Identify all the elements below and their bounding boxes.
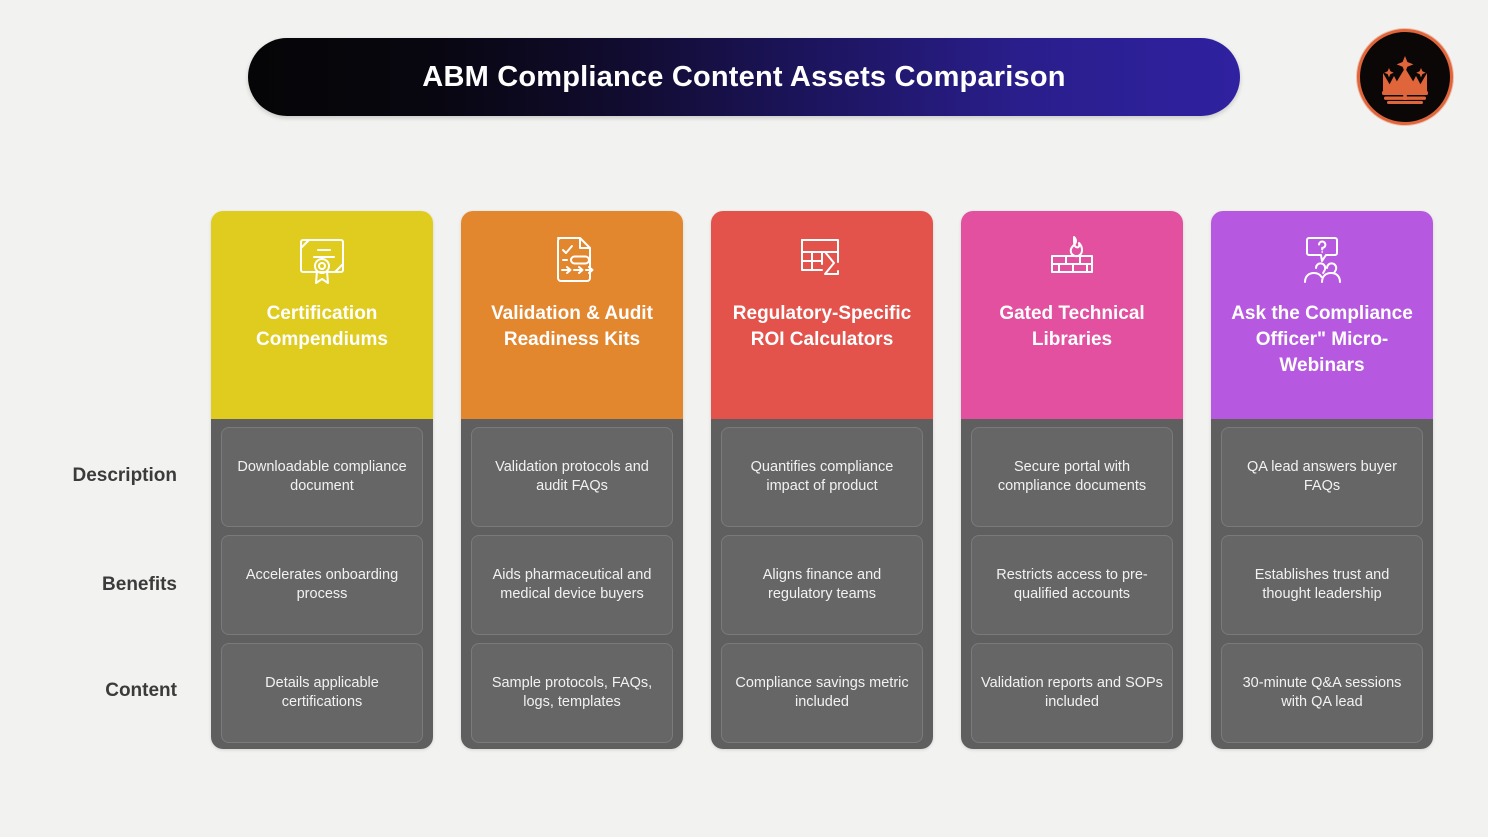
- brand-logo: [1357, 29, 1453, 125]
- cell-content: Compliance savings metric included: [721, 643, 923, 743]
- title-banner: ABM Compliance Content Assets Comparison: [248, 38, 1240, 116]
- cell-content: Validation reports and SOPs included: [971, 643, 1173, 743]
- certificate-seal-icon: [294, 231, 350, 289]
- column-header: Certification Compendiums: [211, 211, 433, 419]
- column-body: QA lead answers buyer FAQs Establishes t…: [1211, 419, 1433, 749]
- asset-column-gated-technical-libraries[interactable]: Gated Technical Libraries Secure portal …: [961, 211, 1183, 749]
- checklist-document-arrows-icon: [544, 231, 600, 289]
- cell-description: Quantifies compliance impact of product: [721, 427, 923, 527]
- column-body: Validation protocols and audit FAQs Aids…: [461, 419, 683, 749]
- page-header: ABM Compliance Content Assets Comparison: [0, 0, 1488, 150]
- column-title: Regulatory-Specific ROI Calculators: [721, 301, 923, 353]
- cell-description: Downloadable compliance document: [221, 427, 423, 527]
- column-header: Validation & Audit Readiness Kits: [461, 211, 683, 419]
- firewall-flame-icon: [1044, 231, 1100, 289]
- cell-benefits: Aids pharmaceutical and medical device b…: [471, 535, 673, 635]
- column-title: Certification Compendiums: [221, 301, 423, 353]
- cell-content: Sample protocols, FAQs, logs, templates: [471, 643, 673, 743]
- qa-people-speech-icon: [1294, 231, 1350, 289]
- column-header: Gated Technical Libraries: [961, 211, 1183, 419]
- cell-benefits: Accelerates onboarding process: [221, 535, 423, 635]
- cell-description: Validation protocols and audit FAQs: [471, 427, 673, 527]
- asset-column-regulatory-specific-roi-calculators[interactable]: Regulatory-Specific ROI Calculators Quan…: [711, 211, 933, 749]
- row-label-description: Description: [0, 420, 195, 532]
- column-header: Ask the Compliance Officer" Micro-Webina…: [1211, 211, 1433, 419]
- page-title: ABM Compliance Content Assets Comparison: [422, 61, 1065, 94]
- column-body: Quantifies compliance impact of product …: [711, 419, 933, 749]
- comparison-grid: Certification Compendiums Downloadable c…: [211, 211, 1435, 749]
- column-body: Downloadable compliance document Acceler…: [211, 419, 433, 749]
- asset-column-ask-the-compliance-officer-micro-webinars[interactable]: Ask the Compliance Officer" Micro-Webina…: [1211, 211, 1433, 749]
- row-label-benefits: Benefits: [0, 532, 195, 638]
- cell-content: 30-minute Q&A sessions with QA lead: [1221, 643, 1423, 743]
- asset-column-validation-audit-readiness-kits[interactable]: Validation & Audit Readiness Kits Valida…: [461, 211, 683, 749]
- crown-logo-icon: [1374, 46, 1436, 108]
- cell-benefits: Aligns finance and regulatory teams: [721, 535, 923, 635]
- row-label-column: Description Benefits Content: [0, 420, 195, 744]
- spreadsheet-sigma-icon: [794, 231, 850, 289]
- column-body: Secure portal with compliance documents …: [961, 419, 1183, 749]
- asset-column-certification-compendiums[interactable]: Certification Compendiums Downloadable c…: [211, 211, 433, 749]
- row-label-content: Content: [0, 638, 195, 744]
- column-header: Regulatory-Specific ROI Calculators: [711, 211, 933, 419]
- column-title: Ask the Compliance Officer" Micro-Webina…: [1221, 301, 1423, 380]
- cell-content: Details applicable certifications: [221, 643, 423, 743]
- column-title: Gated Technical Libraries: [971, 301, 1173, 353]
- cell-description: QA lead answers buyer FAQs: [1221, 427, 1423, 527]
- cell-benefits: Establishes trust and thought leadership: [1221, 535, 1423, 635]
- column-title: Validation & Audit Readiness Kits: [471, 301, 673, 353]
- cell-benefits: Restricts access to pre-qualified accoun…: [971, 535, 1173, 635]
- cell-description: Secure portal with compliance documents: [971, 427, 1173, 527]
